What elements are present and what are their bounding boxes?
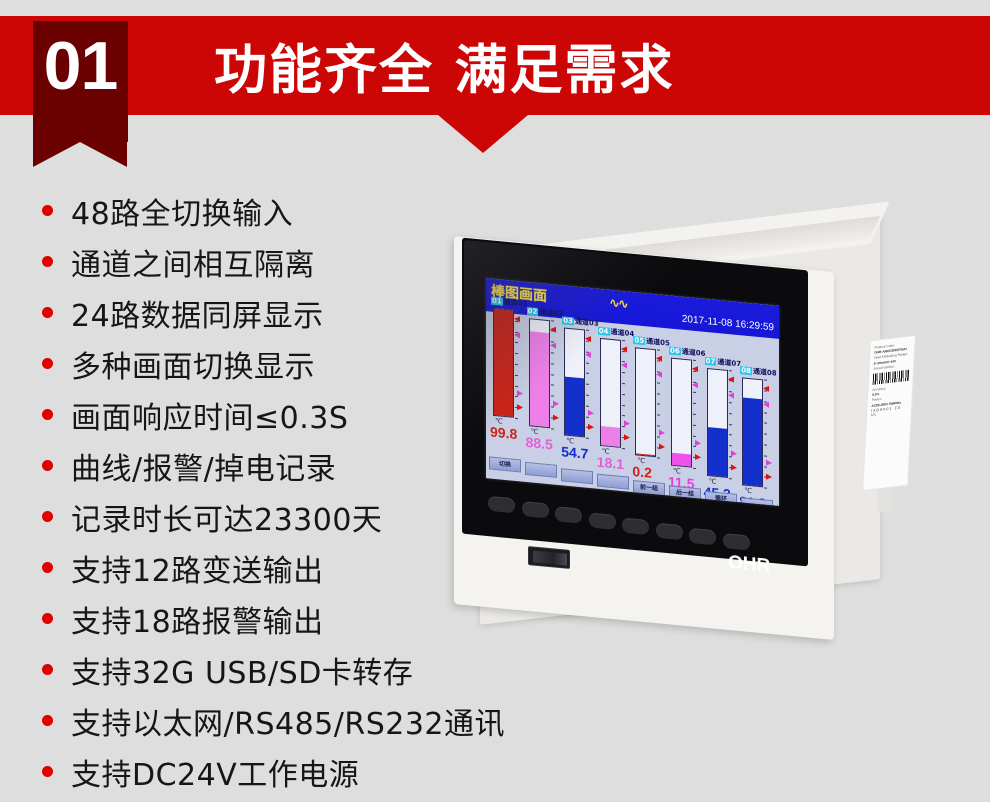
bar-channel-name: 通道05	[645, 338, 670, 348]
scale-tick	[551, 320, 554, 321]
bullet-icon	[42, 664, 53, 675]
scale-tick	[657, 350, 660, 351]
scale-tick	[515, 396, 518, 397]
section-number: 01	[33, 24, 128, 109]
bullet-icon	[42, 205, 53, 216]
scale-tick	[693, 446, 696, 447]
scale-tick	[693, 403, 696, 404]
feature-label: 48路全切换输入	[71, 189, 293, 233]
alarm-marker-icon	[766, 460, 772, 467]
scale-tick	[515, 310, 518, 311]
device-hard-button-5[interactable]	[622, 517, 649, 535]
device-illustration: Product Code: OHR-A/B/C/D/E/F/G/H Input …	[440, 232, 900, 642]
scale-tick	[551, 385, 554, 386]
scale-tick	[515, 418, 518, 419]
device-hard-button-7[interactable]	[689, 528, 716, 546]
bar-channel-index: 05	[633, 336, 645, 345]
scale-tick	[622, 372, 625, 373]
scale-tick	[586, 384, 589, 385]
bar-track	[742, 378, 763, 488]
scale-tick	[622, 405, 625, 406]
scale-tick	[764, 434, 767, 435]
scale-tick	[515, 375, 518, 376]
softkey-button-2[interactable]	[525, 462, 557, 478]
alarm-marker-icon	[728, 392, 734, 399]
alarm-marker-icon	[514, 332, 520, 339]
alarm-marker-icon	[692, 366, 698, 373]
scale-tick	[586, 395, 589, 396]
scale-tick	[693, 392, 696, 393]
scale-tick	[693, 468, 696, 469]
device-hard-button-3[interactable]	[555, 507, 582, 525]
feature-label: 24路数据同屏显示	[71, 291, 324, 335]
scale-tick	[657, 415, 660, 416]
scale-tick	[551, 374, 554, 375]
bar-track	[635, 348, 656, 458]
bar-channel-name: 通道08	[752, 367, 777, 377]
feature-label: 支持12路变送输出	[71, 546, 324, 590]
bar-channel-name: 通道06	[681, 348, 706, 358]
bar-column: 07通道07℃45.3	[705, 356, 737, 359]
scale-tick	[551, 428, 554, 429]
scale-tick	[764, 466, 767, 467]
alarm-marker-icon	[659, 430, 665, 437]
bar-channel-name: 通道03	[574, 318, 599, 328]
bar-channel-name: 通道01	[503, 298, 528, 308]
bullet-icon	[42, 562, 53, 573]
bar-column: 05通道05℃0.2	[633, 336, 665, 339]
scale-tick	[657, 458, 660, 459]
bar-channel-index: 02	[527, 307, 539, 316]
scale-tick	[515, 353, 518, 354]
page-title: 功能齐全 满足需求	[214, 28, 674, 104]
alarm-marker-icon	[585, 352, 591, 359]
softkey-button-1[interactable]: 切换	[489, 456, 521, 472]
alarm-marker-icon	[517, 390, 523, 397]
scale-tick	[622, 415, 625, 416]
section-ribbon-tail	[33, 142, 127, 167]
bar-column: 03通道03℃54.7	[562, 317, 594, 320]
bullet-icon	[42, 613, 53, 624]
scale-tick	[729, 445, 732, 446]
feature-label: 支持以太网/RS485/RS232通讯	[71, 699, 505, 743]
alarm-marker-icon	[656, 356, 662, 363]
scale-tick	[551, 363, 554, 364]
scale-tick	[657, 404, 660, 405]
scale-tick	[657, 393, 660, 394]
scale-tick	[515, 342, 518, 343]
feature-label: 曲线/报警/掉电记录	[71, 444, 336, 488]
bar-column: 08通道08℃81.9	[740, 366, 772, 369]
alarm-marker-icon	[695, 454, 701, 461]
bar-channel-index: 08	[740, 366, 752, 375]
scale-tick	[693, 414, 696, 415]
device-hard-button-4[interactable]	[589, 512, 616, 530]
bar-chart-area: 01通道01℃99.802通道02℃88.503通道03℃54.704通道04℃…	[486, 296, 779, 484]
bullet-icon	[42, 358, 53, 369]
feature-label: 支持18路报警输出	[71, 597, 324, 641]
brand-logo: OHR	[728, 552, 770, 578]
scale-tick	[586, 373, 589, 374]
scale-tick	[693, 360, 696, 361]
feature-label: 支持32G USB/SD卡转存	[71, 648, 413, 692]
softkey-button-3[interactable]	[561, 468, 593, 484]
bar-fill	[708, 427, 727, 477]
alarm-marker-icon	[731, 464, 737, 471]
alarm-marker-icon	[624, 420, 630, 427]
bullet-icon	[42, 511, 53, 522]
bar-channel-name: 通道07	[716, 358, 741, 368]
bar-fill	[672, 453, 691, 467]
alarm-marker-icon	[692, 382, 698, 389]
bar-channel-index: 03	[562, 317, 574, 326]
scale-tick	[551, 352, 554, 353]
device-hard-button-2[interactable]	[522, 501, 549, 519]
softkey-button-4[interactable]	[597, 474, 629, 490]
alarm-marker-icon	[553, 400, 559, 407]
alarm-marker-icon	[553, 414, 559, 421]
bullet-icon	[42, 715, 53, 726]
bar-channel-index: 06	[669, 346, 681, 355]
alarm-marker-icon	[550, 326, 556, 333]
scale-tick	[657, 436, 660, 437]
alarm-marker-icon	[517, 404, 523, 411]
bar-column: 04通道04℃18.1	[598, 327, 630, 330]
bullet-icon	[42, 766, 53, 777]
bar-track	[564, 328, 585, 438]
bar-fill	[601, 426, 620, 447]
bar-value-readout: 99.8	[490, 424, 517, 443]
scale-tick	[729, 413, 732, 414]
feature-label: 通道之间相互隔离	[71, 240, 315, 284]
bar-channel-index: 07	[705, 356, 717, 365]
bar-scale	[729, 370, 733, 478]
scale-tick	[729, 456, 732, 457]
scale-tick	[729, 370, 732, 371]
spec-label: Product Code: OHR-A/B/C/D/E/F/G/H Input …	[862, 335, 916, 491]
ir-sensor-slot	[528, 546, 570, 569]
bar-scale	[764, 380, 768, 488]
bar-column: 06通道06℃11.5	[669, 346, 701, 349]
alarm-marker-icon	[585, 336, 591, 343]
list-item: 支持32G USB/SD卡转存	[42, 644, 512, 695]
scale-tick	[622, 394, 625, 395]
bar-track	[529, 318, 550, 428]
scale-tick	[622, 448, 625, 449]
scale-tick	[729, 402, 732, 403]
alarm-marker-icon	[621, 346, 627, 353]
bar-scale	[586, 330, 590, 438]
alarm-marker-icon	[763, 386, 769, 393]
scale-tick	[764, 423, 767, 424]
list-item: 支持以太网/RS485/RS232通讯	[42, 695, 512, 746]
list-item: 48路全切换输入	[42, 185, 512, 236]
scale-tick	[729, 424, 732, 425]
scale-tick	[551, 406, 554, 407]
bar-channel-name: 通道02	[538, 308, 563, 318]
feature-label: 多种画面切换显示	[71, 342, 315, 386]
bullet-icon	[42, 256, 53, 267]
bar-scale	[693, 360, 697, 468]
bar-scale	[657, 350, 661, 458]
scale-tick	[586, 362, 589, 363]
bar-value-readout: 54.7	[561, 443, 588, 462]
scale-tick	[657, 425, 660, 426]
header-notch-triangle	[438, 115, 528, 153]
alarm-marker-icon	[659, 444, 665, 451]
alarm-marker-icon	[656, 372, 662, 379]
bar-channel-index: 04	[598, 327, 610, 336]
scale-tick	[693, 425, 696, 426]
bar-fill	[743, 398, 762, 487]
alarm-marker-icon	[731, 450, 737, 457]
device-hard-button-8[interactable]	[723, 533, 750, 551]
feature-label: 支持DC24V工作电源	[71, 750, 359, 794]
bar-fill	[494, 309, 513, 417]
alarm-marker-icon	[550, 342, 556, 349]
scale-tick	[586, 416, 589, 417]
scale-tick	[657, 382, 660, 383]
scale-tick	[551, 395, 554, 396]
scale-tick	[622, 340, 625, 341]
scale-tick	[622, 426, 625, 427]
feature-label: 记录时长可达23300天	[71, 495, 382, 539]
scale-tick	[693, 435, 696, 436]
scale-tick	[764, 444, 767, 445]
alarm-marker-icon	[514, 316, 520, 323]
scale-tick	[764, 412, 767, 413]
scale-tick	[764, 455, 767, 456]
scale-tick	[729, 434, 732, 435]
alarm-marker-icon	[766, 474, 772, 481]
scale-tick	[764, 380, 767, 381]
scale-tick	[586, 330, 589, 331]
scale-tick	[586, 405, 589, 406]
bar-track	[600, 338, 621, 448]
device-hard-button-1[interactable]	[488, 496, 515, 514]
alarm-marker-icon	[695, 440, 701, 447]
alarm-marker-icon	[588, 424, 594, 431]
alarm-marker-icon	[624, 434, 630, 441]
bar-track	[493, 308, 514, 418]
alarm-marker-icon	[621, 362, 627, 369]
bar-track	[707, 368, 728, 478]
bar-scale	[622, 340, 626, 448]
bullet-icon	[42, 307, 53, 318]
ir-sensor-window	[533, 550, 567, 565]
bar-column: 02通道02℃88.5	[527, 307, 559, 310]
scale-tick	[622, 383, 625, 384]
alarm-marker-icon	[728, 376, 734, 383]
bar-fill	[530, 331, 549, 427]
bar-value-readout: 88.5	[526, 433, 553, 452]
list-item: 支持DC24V工作电源	[42, 746, 512, 797]
bullet-icon	[42, 460, 53, 471]
bar-channel-name: 通道04	[610, 328, 635, 338]
barcode	[873, 370, 910, 385]
bar-channel-index: 01	[491, 297, 503, 306]
bullet-icon	[42, 409, 53, 420]
bar-scale	[515, 310, 519, 418]
scale-tick	[586, 438, 589, 439]
bar-scale	[551, 320, 555, 428]
scale-tick	[515, 364, 518, 365]
bar-fill	[565, 377, 584, 437]
scale-tick	[515, 385, 518, 386]
device-hard-button-6[interactable]	[656, 523, 683, 541]
device-lcd-screen[interactable]: 棒图画面 ∿∿ 2017-11-08 16:29:59 01通道01℃99.80…	[486, 278, 779, 506]
bar-track	[671, 358, 692, 468]
alarm-marker-icon	[588, 410, 594, 417]
alarm-marker-icon	[763, 402, 769, 409]
feature-label: 画面响应时间≤0.3S	[71, 393, 348, 437]
